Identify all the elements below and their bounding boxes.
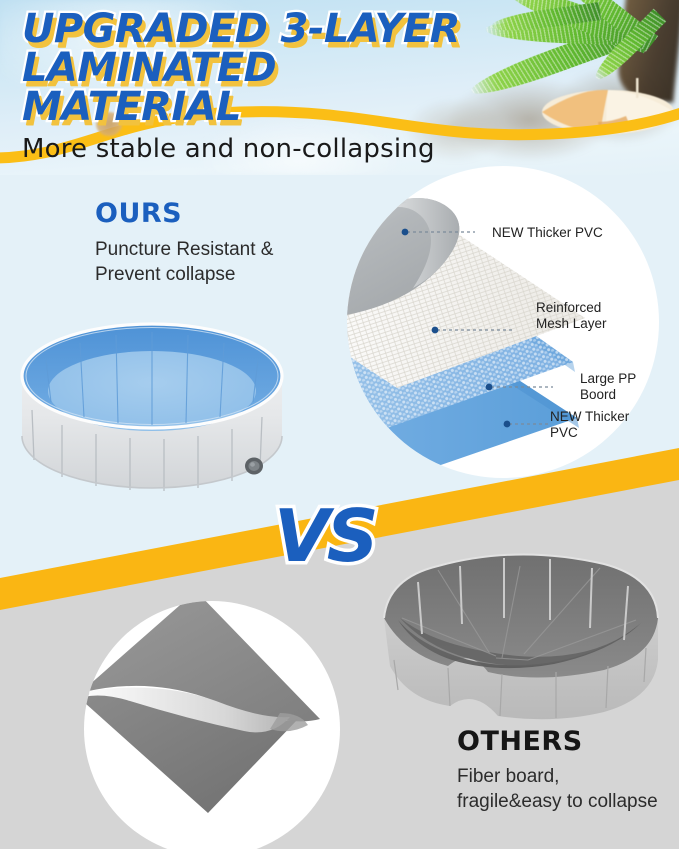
others-description: Fiber board, fragile&easy to collapse xyxy=(457,765,667,814)
layer-label-new-thicker-pvc-top: NEW Thicker PVC xyxy=(492,225,603,241)
page-subtitle: More stable and non-collapsing xyxy=(22,134,492,164)
others-heading: OTHERS xyxy=(457,726,667,757)
vs-badge: VS xyxy=(274,500,376,572)
ours-description: Puncture Resistant & Prevent collapse xyxy=(95,238,295,287)
infographic-page: UPGRADED 3-LAYER LAMINATED MATERIAL More… xyxy=(0,0,679,849)
layer-label-new-thicker-pvc-bottom: NEW Thicker PVC xyxy=(550,409,630,441)
others-material-diagram xyxy=(84,601,340,849)
drain-valve-icon xyxy=(245,458,263,475)
layer-label-reinforced-mesh: Reinforced Mesh Layer xyxy=(536,300,628,332)
title-line-2: LAMINATED MATERIAL xyxy=(22,49,492,127)
page-title: UPGRADED 3-LAYER LAMINATED MATERIAL xyxy=(22,10,492,128)
others-text-block: OTHERS Fiber board, fragile&easy to coll… xyxy=(457,726,667,814)
header-banner: UPGRADED 3-LAYER LAMINATED MATERIAL More… xyxy=(0,0,679,175)
ours-text-block: OURS Puncture Resistant & Prevent collap… xyxy=(95,198,295,287)
others-product-image xyxy=(378,548,663,733)
title-line-1: UPGRADED 3-LAYER xyxy=(22,10,492,49)
ours-heading: OURS xyxy=(95,198,295,229)
layer-label-large-pp-board: Large PP Boord xyxy=(580,371,652,403)
header-title-block: UPGRADED 3-LAYER LAMINATED MATERIAL More… xyxy=(22,10,492,164)
ours-product-image xyxy=(18,318,286,498)
